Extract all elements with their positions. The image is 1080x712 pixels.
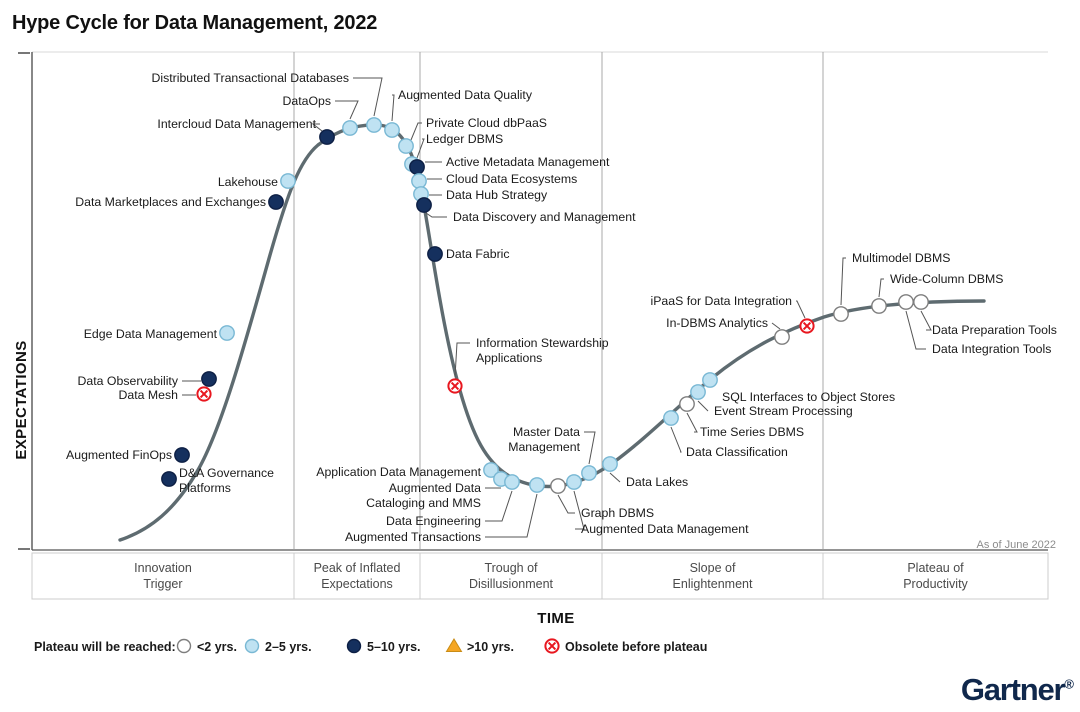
point-marker-data-discovery-and-management[interactable]: [417, 198, 431, 212]
svg-text:Data Discovery and Management: Data Discovery and Management: [453, 210, 636, 224]
label-data-preparation-tools: Data Preparation Tools: [932, 323, 1057, 337]
as-of-date: As of June 2022: [976, 539, 1056, 551]
point-marker-data-observability[interactable]: [202, 372, 216, 386]
svg-text:Data Classification: Data Classification: [686, 445, 788, 459]
label-data-marketplaces-and-exchanges: Data Marketplaces and Exchanges: [75, 195, 266, 209]
legend-item-lt2[interactable]: <2 yrs.: [178, 640, 237, 655]
point-marker-intercloud-data-management[interactable]: [320, 130, 334, 144]
legend: Plateau will be reached:<2 yrs.2–5 yrs.5…: [34, 639, 707, 654]
svg-text:Management: Management: [508, 440, 580, 454]
svg-text:Private Cloud dbPaaS: Private Cloud dbPaaS: [426, 116, 547, 130]
svg-text:Intercloud Data Management: Intercloud Data Management: [157, 117, 316, 131]
svg-text:Wide-Column DBMS: Wide-Column DBMS: [890, 272, 1003, 286]
svg-text:In-DBMS Analytics: In-DBMS Analytics: [666, 316, 768, 330]
legend-label-obsolete: Obsolete before plateau: [565, 640, 707, 654]
point-marker-data-marketplaces-and-exchanges[interactable]: [269, 195, 283, 209]
svg-text:Data Fabric: Data Fabric: [446, 247, 510, 261]
point-marker-augmented-finops[interactable]: [175, 448, 189, 462]
legend-item-y5_10[interactable]: 5–10 yrs.: [348, 640, 421, 655]
point-marker-information-stewardship-applications[interactable]: [448, 379, 461, 392]
svg-text:Data Marketplaces and Exchange: Data Marketplaces and Exchanges: [75, 195, 266, 209]
point-marker-private-cloud-dbpaas[interactable]: [399, 139, 413, 153]
label-data-observability: Data Observability: [78, 374, 179, 388]
svg-text:Platforms: Platforms: [179, 481, 231, 495]
label-time-series-dbms: Time Series DBMS: [700, 425, 804, 439]
label-cloud-data-ecosystems: Cloud Data Ecosystems: [446, 172, 577, 186]
svg-text:D&A Governance: D&A Governance: [179, 466, 274, 480]
svg-text:Peak of Inflated: Peak of Inflated: [314, 561, 401, 575]
legend-prefix: Plateau will be reached:: [34, 640, 176, 654]
point-marker-edge-data-management[interactable]: [220, 326, 234, 340]
label-augmented-data-quality: Augmented Data Quality: [398, 88, 533, 102]
label-event-stream-processing: Event Stream Processing: [714, 404, 853, 418]
svg-text:Master Data: Master Data: [513, 425, 580, 439]
label-dataops: DataOps: [282, 94, 331, 108]
svg-text:Information Stewardship: Information Stewardship: [476, 336, 609, 350]
point-marker-active-metadata-management[interactable]: [410, 160, 424, 174]
svg-text:SQL Interfaces to Object Store: SQL Interfaces to Object Stores: [722, 390, 895, 404]
label-lakehouse: Lakehouse: [218, 175, 278, 189]
svg-text:Enlightenment: Enlightenment: [673, 577, 753, 591]
svg-text:Slope of: Slope of: [690, 561, 736, 575]
svg-text:Data Integration Tools: Data Integration Tools: [932, 342, 1051, 356]
legend-item-y2_5[interactable]: 2–5 yrs.: [246, 640, 312, 655]
svg-text:Data Observability: Data Observability: [78, 374, 179, 388]
point-marker-data-preparation-tools[interactable]: [914, 295, 928, 309]
y-axis-label: EXPECTATIONS: [13, 340, 30, 459]
point-marker-cloud-data-ecosystems[interactable]: [412, 174, 426, 188]
point-marker-data-engineering[interactable]: [505, 475, 519, 489]
point-marker-ipaas-for-data-integration[interactable]: [800, 319, 813, 332]
point-marker-master-data-management[interactable]: [582, 466, 596, 480]
gartner-logo: Gartner®: [961, 672, 1074, 708]
point-marker-augmented-data-management[interactable]: [567, 475, 581, 489]
label-application-data-management: Application Data Management: [316, 465, 481, 479]
label-data-classification: Data Classification: [686, 445, 788, 459]
svg-text:Cloud Data Ecosystems: Cloud Data Ecosystems: [446, 172, 577, 186]
label-data-hub-strategy: Data Hub Strategy: [446, 188, 548, 202]
svg-text:Lakehouse: Lakehouse: [218, 175, 278, 189]
label-in-dbms-analytics: In-DBMS Analytics: [666, 316, 768, 330]
svg-text:Time Series DBMS: Time Series DBMS: [700, 425, 804, 439]
svg-text:Applications: Applications: [476, 351, 542, 365]
point-marker-lakehouse[interactable]: [281, 174, 295, 188]
phase-band: InnovationTriggerPeak of InflatedExpecta…: [32, 553, 1048, 599]
legend-label-lt2: <2 yrs.: [197, 640, 237, 654]
svg-text:Data Mesh: Data Mesh: [119, 388, 179, 402]
point-marker-augmented-data-quality[interactable]: [385, 123, 399, 137]
svg-text:Augmented Data: Augmented Data: [389, 481, 481, 495]
point-marker-multimodel-dbms[interactable]: [834, 307, 848, 321]
label-sql-interfaces-to-object-stores: SQL Interfaces to Object Stores: [722, 390, 895, 404]
point-marker-d-a-governance-platforms[interactable]: [162, 472, 176, 486]
registered-mark: ®: [1064, 677, 1074, 692]
legend-label-gt10: >10 yrs.: [467, 640, 514, 654]
svg-text:Trigger: Trigger: [143, 577, 182, 591]
legend-item-obsolete[interactable]: Obsolete before plateau: [545, 639, 707, 654]
label-edge-data-management: Edge Data Management: [84, 327, 218, 341]
gartner-wordmark: Gartner: [961, 672, 1065, 707]
svg-text:Distributed Transactional Data: Distributed Transactional Databases: [151, 71, 349, 85]
point-marker-dataops[interactable]: [343, 121, 357, 135]
label-ledger-dbms: Ledger DBMS: [426, 132, 503, 146]
svg-text:Graph DBMS: Graph DBMS: [581, 506, 654, 520]
hype-cycle-chart: D&A GovernancePlatformsAugmented FinOpsD…: [0, 0, 1080, 712]
svg-text:Augmented Data Management: Augmented Data Management: [581, 522, 749, 536]
svg-text:Augmented Transactions: Augmented Transactions: [345, 530, 481, 544]
svg-text:Innovation: Innovation: [134, 561, 192, 575]
svg-text:Cataloging and MMS: Cataloging and MMS: [366, 496, 481, 510]
point-marker-data-lakes[interactable]: [603, 457, 617, 471]
point-marker-augmented-transactions[interactable]: [530, 478, 544, 492]
chart-svg: D&A GovernancePlatformsAugmented FinOpsD…: [0, 0, 1080, 712]
point-marker-wide-column-dbms[interactable]: [872, 299, 886, 313]
label-intercloud-data-management: Intercloud Data Management: [157, 117, 316, 131]
svg-text:Augmented Data Quality: Augmented Data Quality: [398, 88, 533, 102]
svg-text:Multimodel DBMS: Multimodel DBMS: [852, 251, 950, 265]
svg-text:DataOps: DataOps: [282, 94, 331, 108]
svg-text:Edge Data Management: Edge Data Management: [84, 327, 218, 341]
svg-text:Active Metadata Management: Active Metadata Management: [446, 155, 610, 169]
legend-label-y2_5: 2–5 yrs.: [265, 640, 312, 654]
point-marker-graph-dbms[interactable]: [551, 479, 565, 493]
label-data-lakes: Data Lakes: [626, 475, 688, 489]
point-marker-distributed-transactional-databases[interactable]: [367, 118, 381, 132]
point-marker-event-stream-processing[interactable]: [691, 385, 705, 399]
label-augmented-transactions: Augmented Transactions: [345, 530, 481, 544]
label-wide-column-dbms: Wide-Column DBMS: [890, 272, 1003, 286]
point-marker-data-fabric[interactable]: [428, 247, 442, 261]
label-active-metadata-management: Active Metadata Management: [446, 155, 610, 169]
label-master-data-management: Master DataManagement: [508, 425, 580, 454]
label-data-mesh: Data Mesh: [119, 388, 179, 402]
svg-text:Plateau of: Plateau of: [907, 561, 964, 575]
label-data-fabric: Data Fabric: [446, 247, 510, 261]
label-data-engineering: Data Engineering: [386, 514, 481, 528]
label-augmented-finops: Augmented FinOps: [66, 448, 172, 462]
legend-label-y5_10: 5–10 yrs.: [367, 640, 421, 654]
point-marker-data-classification[interactable]: [664, 411, 678, 425]
label-graph-dbms: Graph DBMS: [581, 506, 654, 520]
point-marker-time-series-dbms[interactable]: [680, 397, 694, 411]
label-data-integration-tools: Data Integration Tools: [932, 342, 1051, 356]
svg-text:Data Hub Strategy: Data Hub Strategy: [446, 188, 548, 202]
legend-item-gt10[interactable]: >10 yrs.: [447, 639, 514, 654]
svg-text:Expectations: Expectations: [321, 577, 393, 591]
point-marker-in-dbms-analytics[interactable]: [775, 330, 789, 344]
svg-text:Application Data Management: Application Data Management: [316, 465, 481, 479]
svg-text:Trough of: Trough of: [484, 561, 538, 575]
label-ipaas-for-data-integration: iPaaS for Data Integration: [651, 294, 793, 308]
label-private-cloud-dbpaas: Private Cloud dbPaaS: [426, 116, 547, 130]
x-axis-label: TIME: [537, 610, 574, 627]
svg-text:Disillusionment: Disillusionment: [469, 577, 554, 591]
svg-text:Event Stream Processing: Event Stream Processing: [714, 404, 853, 418]
label-distributed-transactional-databases: Distributed Transactional Databases: [151, 71, 349, 85]
point-marker-sql-interfaces-to-object-stores[interactable]: [703, 373, 717, 387]
svg-text:Data Engineering: Data Engineering: [386, 514, 481, 528]
label-augmented-data-management: Augmented Data Management: [581, 522, 749, 536]
svg-text:Ledger DBMS: Ledger DBMS: [426, 132, 503, 146]
svg-text:Augmented FinOps: Augmented FinOps: [66, 448, 172, 462]
point-marker-data-mesh[interactable]: [197, 387, 210, 400]
label-data-discovery-and-management: Data Discovery and Management: [453, 210, 636, 224]
svg-text:iPaaS for Data Integration: iPaaS for Data Integration: [651, 294, 793, 308]
svg-text:Productivity: Productivity: [903, 577, 968, 591]
label-multimodel-dbms: Multimodel DBMS: [852, 251, 950, 265]
svg-text:Data Preparation Tools: Data Preparation Tools: [932, 323, 1057, 337]
svg-text:Data Lakes: Data Lakes: [626, 475, 688, 489]
point-marker-data-integration-tools[interactable]: [899, 295, 913, 309]
